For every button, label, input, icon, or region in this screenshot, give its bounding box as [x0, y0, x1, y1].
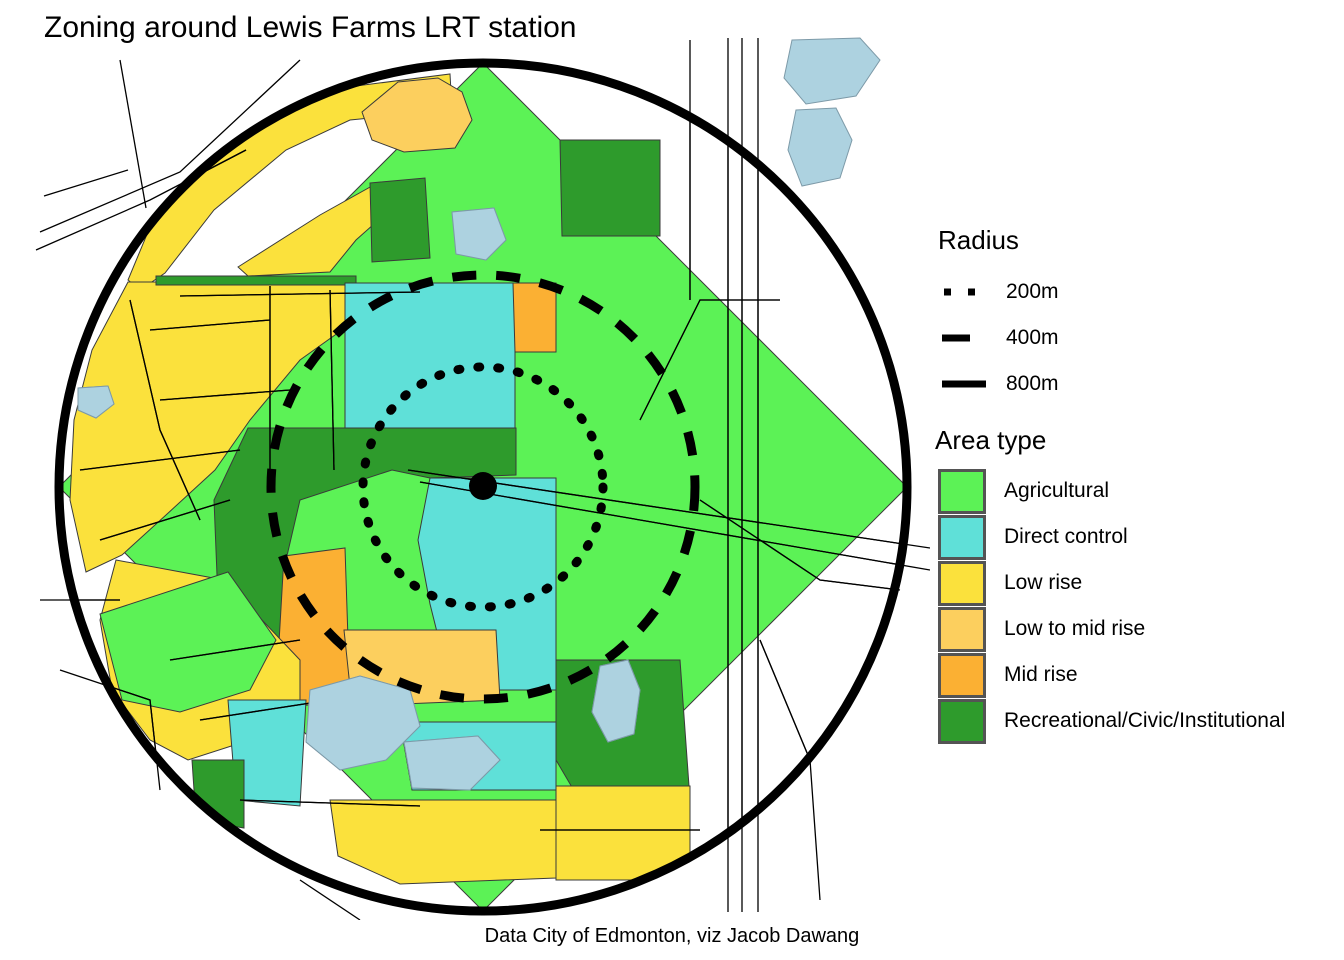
area-legend-swatch	[938, 515, 986, 560]
station-dot	[469, 472, 497, 500]
radius-key-dotted-icon	[938, 272, 996, 312]
radius-key-line	[942, 381, 986, 388]
area-legend-row-direct-control[interactable]: Direct control	[938, 514, 1128, 560]
area-legend-swatch	[938, 561, 986, 606]
road-nw-3	[44, 170, 128, 196]
water-lake-northeast	[784, 38, 880, 104]
radius-legend-row-200m[interactable]: 200m	[938, 272, 1059, 312]
radius-legend-title: Radius	[938, 225, 1019, 256]
area-legend-label: Low rise	[1004, 571, 1082, 595]
recreational-ne-block[interactable]	[560, 140, 660, 236]
road-nw-4	[120, 60, 146, 208]
area-legend-swatch	[938, 699, 986, 744]
area-legend-swatch	[938, 469, 986, 514]
area-legend-row-agricultural[interactable]: Agricultural	[938, 468, 1109, 514]
zoning-map-page: Zoning around Lewis Farms LRT station Ra…	[0, 0, 1344, 960]
area-legend-row-low-rise[interactable]: Low rise	[938, 560, 1082, 606]
area-legend-label: Mid rise	[1004, 663, 1078, 687]
area-legend-row-recreational-civic-institutional[interactable]: Recreational/Civic/Institutional	[938, 698, 1285, 744]
area-legend-label: Agricultural	[1004, 479, 1109, 503]
water-lake-north-2	[788, 108, 852, 186]
area-legend-label: Direct control	[1004, 525, 1128, 549]
area-legend-row-mid-rise[interactable]: Mid rise	[938, 652, 1078, 698]
recreational-north-block[interactable]	[370, 178, 430, 262]
radius-key-solid-icon	[938, 364, 996, 404]
area-legend-label: Recreational/Civic/Institutional	[1004, 709, 1285, 733]
radius-legend-label: 800m	[1006, 372, 1059, 396]
low-rise-south-strip[interactable]	[330, 800, 556, 884]
radius-key-dashed-icon	[938, 318, 996, 358]
radius-legend-row-400m[interactable]: 400m	[938, 318, 1059, 358]
radius-legend-row-800m[interactable]: 800m	[938, 364, 1059, 404]
area-legend-row-low-to-mid-rise[interactable]: Low to mid rise	[938, 606, 1145, 652]
map-canvas[interactable]	[0, 0, 930, 920]
radius-key-dot	[968, 289, 975, 296]
area-legend-label: Low to mid rise	[1004, 617, 1145, 641]
radius-key-dot	[944, 289, 951, 296]
source-caption: Data City of Edmonton, viz Jacob Dawang	[0, 925, 1344, 948]
area-type-legend-title: Area type	[935, 425, 1046, 456]
radius-legend-label: 200m	[1006, 280, 1059, 304]
legend-panel: Radius 200m400m800m Area type Agricultur…	[930, 0, 1344, 920]
mid-rise-east-notch[interactable]	[513, 283, 556, 352]
recreational-north-bar[interactable]	[156, 276, 356, 285]
road-se-1	[760, 640, 820, 900]
radius-key-line	[942, 335, 970, 342]
radius-legend-label: 400m	[1006, 326, 1059, 350]
area-legend-swatch	[938, 653, 986, 698]
area-legend-swatch	[938, 607, 986, 652]
